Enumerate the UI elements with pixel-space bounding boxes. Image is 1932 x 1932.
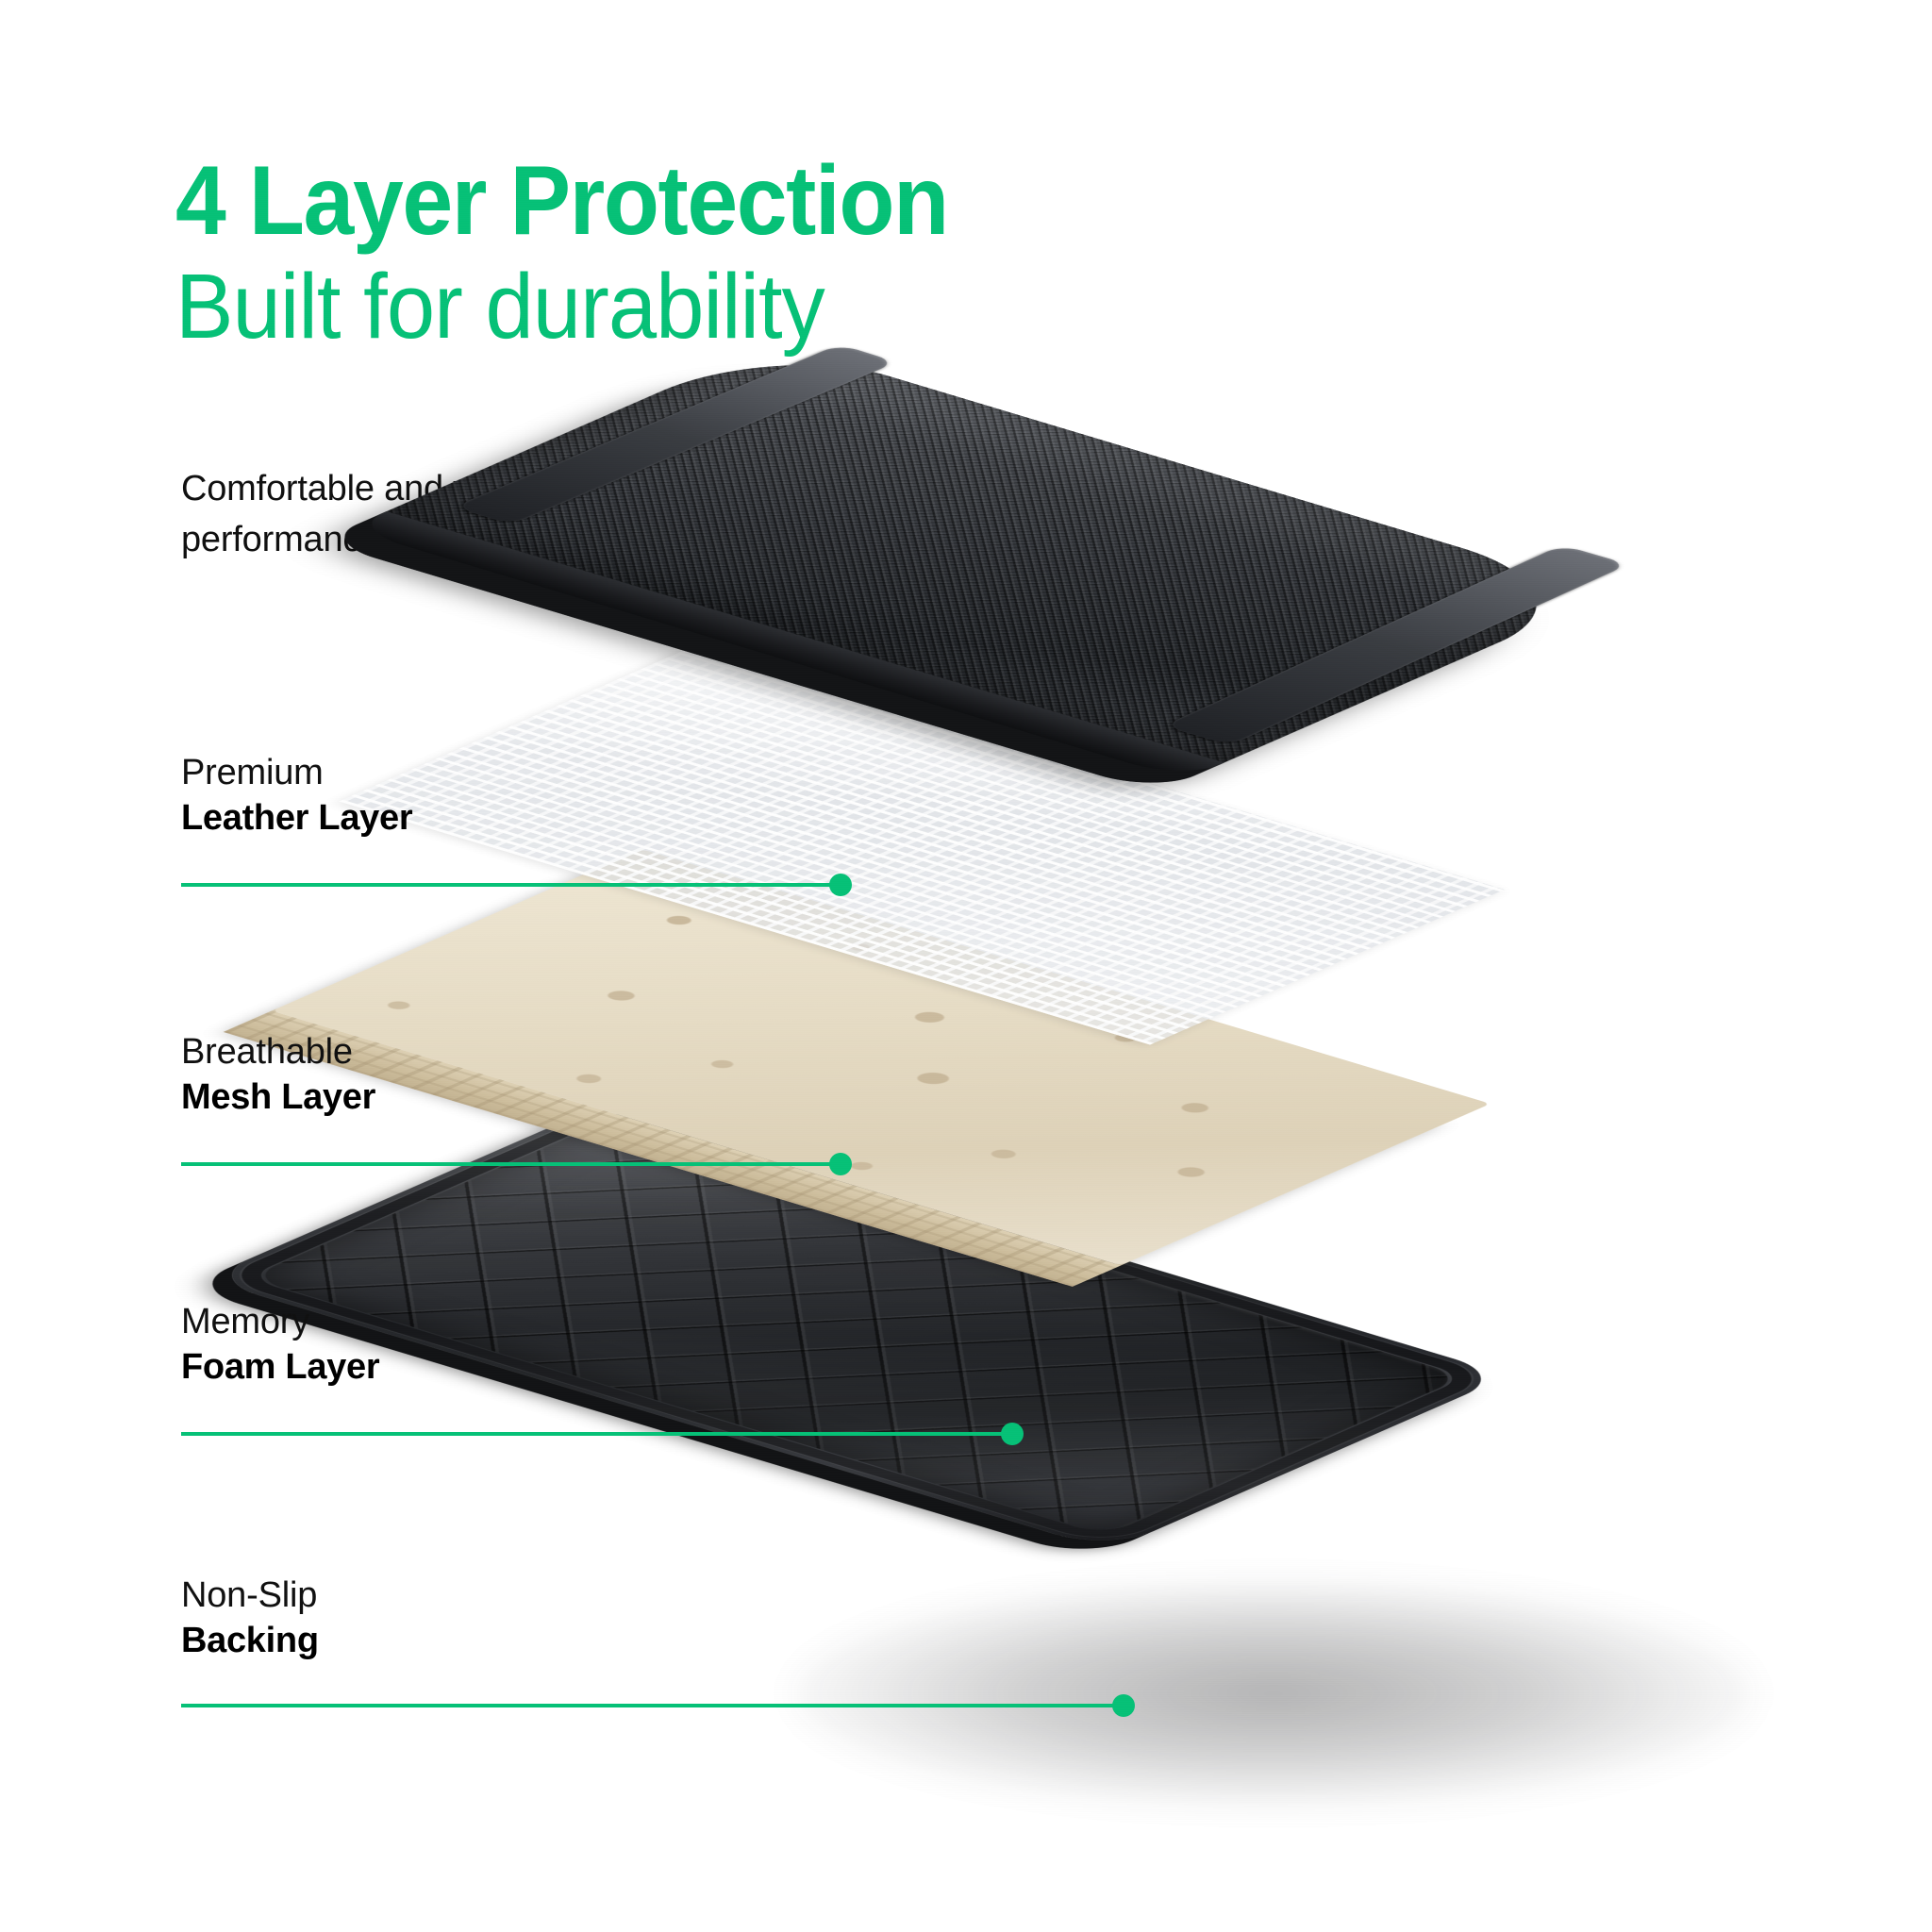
leader-rule-foam [181,1432,1013,1436]
callout-mesh-label-top: Breathable [181,1030,375,1074]
leather-seam-left [454,344,897,525]
leader-dot-leather [829,874,852,896]
callout-backing: Non-Slip Backing [181,1574,319,1665]
callout-backing-label-bold: Backing [181,1618,319,1664]
callout-leather: Premium Leather Layer [181,751,412,842]
callout-mesh-label-bold: Mesh Layer [181,1074,375,1121]
leader-rule-leather [181,883,841,887]
callout-leather-label-top: Premium [181,751,412,795]
leader-line-backing [181,1694,1124,1717]
leader-line-mesh [181,1153,841,1175]
leader-rule-mesh [181,1162,841,1166]
product-layer-stack [604,443,1858,1858]
callout-foam-label-top: Memory [181,1300,379,1344]
leader-dot-foam [1001,1423,1024,1445]
leader-line-foam [181,1423,1013,1445]
leader-dot-mesh [829,1153,852,1175]
page-subtitle: Built for durability [175,258,1161,357]
page-title: 4 Layer Protection [175,151,1141,252]
ground-shadow [792,1580,1755,1807]
leader-rule-backing [181,1704,1124,1707]
leader-dot-backing [1112,1694,1135,1717]
leather-seam-right [1163,545,1628,745]
leader-line-leather [181,874,841,896]
callout-mesh: Breathable Mesh Layer [181,1030,375,1122]
callout-leather-label-bold: Leather Layer [181,795,412,841]
heading-block: 4 Layer Protection Built for durability [175,151,1213,357]
callout-foam-label-bold: Foam Layer [181,1344,379,1391]
infographic-page: 4 Layer Protection Built for durability … [0,0,1932,1932]
callout-backing-label-top: Non-Slip [181,1574,319,1618]
callout-foam: Memory Foam Layer [181,1300,379,1391]
